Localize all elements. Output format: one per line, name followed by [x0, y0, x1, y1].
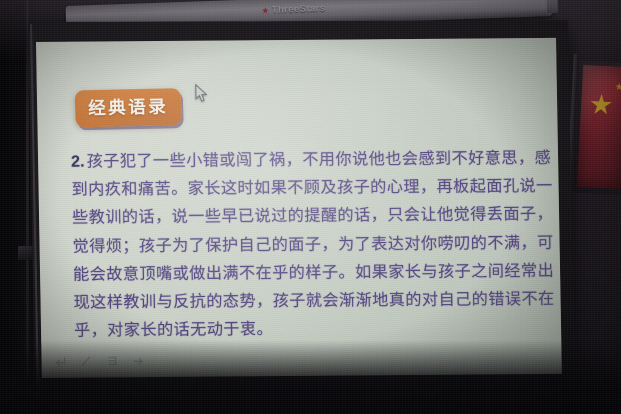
body-line-4: 觉得烦；孩子为了保护自己的面子，为了表达对你唠叨的不满，可 — [72, 229, 538, 261]
body-line-5: 能会故意顶嘴或做出满不在乎的样子。如果家长与孩子之间经常出 — [73, 257, 539, 289]
body-line-6: 现这样教训与反抗的态势，孩子就会渐渐地真的对自己的错误不在 — [73, 285, 539, 317]
presentation-slide: 经典语录 2.孩子犯了一些小错或闯了祸，不用你说他也会感到不好意思，感 到内疚和… — [36, 38, 562, 378]
mouse-pointer-cursor — [195, 84, 208, 103]
screen-brand-text: ThreeStars — [272, 3, 326, 16]
body-line-1-text: 孩子犯了一些小错或闯了祸，不用你说他也会感到不好意思，感 — [86, 149, 551, 171]
slide-title-badge: 经典语录 — [75, 88, 182, 127]
slide-body-text: 2.孩子犯了一些小错或闯了祸，不用你说他也会感到不好意思，感 到内疚和痛苦。家长… — [71, 144, 540, 345]
body-line-1: 2.孩子犯了一些小错或闯了祸，不用你说他也会感到不好意思，感 — [71, 144, 537, 176]
slide-title-badge-label: 经典语录 — [88, 93, 169, 120]
roller-end-cap — [546, 0, 558, 13]
lower-room-shadow — [0, 340, 621, 414]
projected-slide-area: 经典语录 2.孩子犯了一些小错或闯了祸，不用你说他也会感到不好意思，感 到内疚和… — [36, 38, 562, 378]
star-logo-icon — [262, 7, 269, 14]
photo-scene: ThreeStars 经典语录 2.孩子犯了一些小错或闯了祸，不用你说他也会感到… — [0, 0, 621, 414]
body-line-3: 些教训的话，说一些早已说过的提醒的话，只会让他觉得丢面子， — [72, 200, 538, 232]
body-line-2: 到内疚和痛苦。家长这时如果不顾及孩子的心理，再板起面孔说一 — [71, 172, 537, 204]
body-item-number: 2. — [71, 153, 85, 171]
flag-sheen-overlay — [577, 65, 621, 189]
chinese-national-flag — [577, 65, 621, 189]
screen-brand-label: ThreeStars — [262, 3, 326, 16]
